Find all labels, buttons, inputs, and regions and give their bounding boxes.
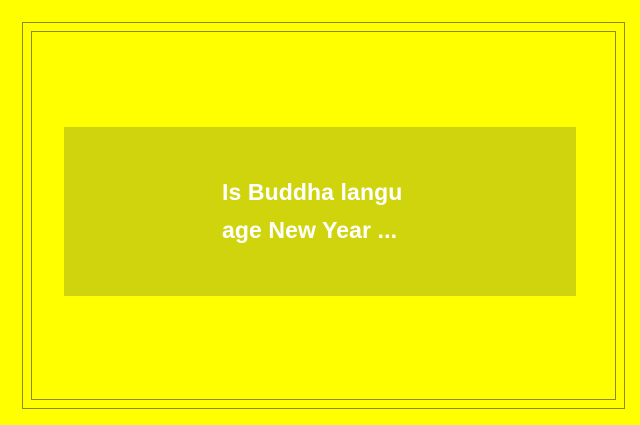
content-card[interactable]: Is Buddha langu age New Year ... [64, 127, 576, 296]
page-canvas: Is Buddha langu age New Year ... [0, 0, 640, 425]
card-title: Is Buddha langu age New Year ... [222, 173, 432, 249]
